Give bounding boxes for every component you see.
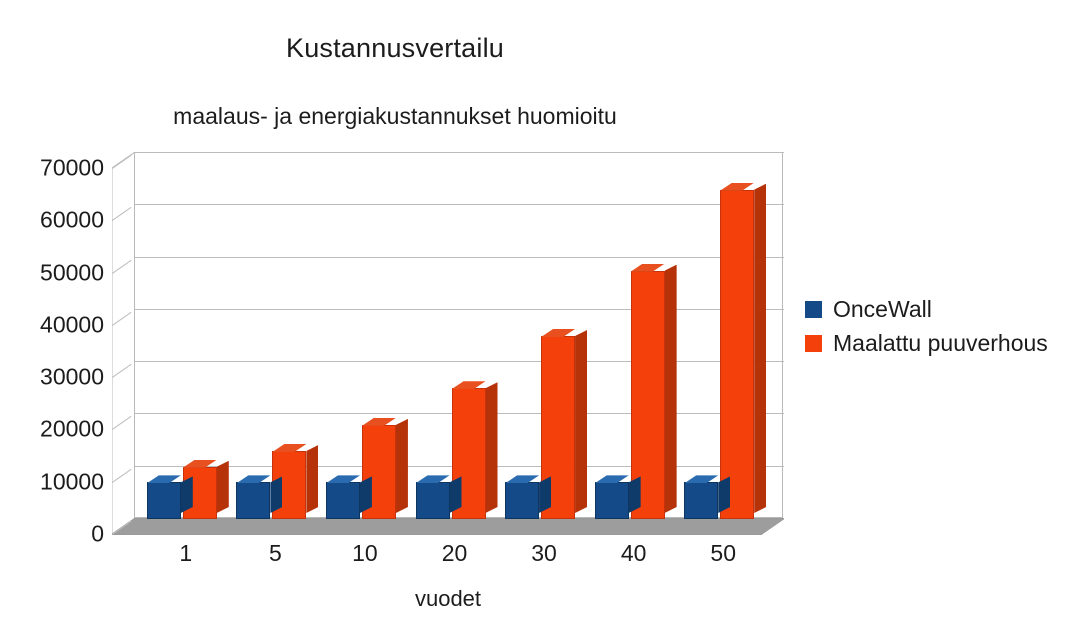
bar-side-face bbox=[539, 476, 551, 513]
x-axis-labels: 151020304050 bbox=[112, 540, 784, 570]
bar-front-face bbox=[505, 482, 539, 519]
bars-layer bbox=[112, 152, 784, 534]
legend-swatch-icon bbox=[805, 301, 822, 318]
bar-front-face bbox=[720, 190, 754, 519]
legend-item[interactable]: Maalattu puuverhous bbox=[805, 326, 1075, 360]
bar-side-face bbox=[181, 476, 193, 513]
bar-side-face bbox=[486, 382, 498, 513]
y-axis-tick-label: 0 bbox=[0, 521, 104, 548]
x-axis-tick-label: 40 bbox=[621, 540, 647, 567]
y-axis-tick-label: 40000 bbox=[0, 311, 104, 338]
bar-chart: Kustannusvertailu maalaus- ja energiakus… bbox=[0, 0, 1076, 626]
bar-side-face bbox=[629, 476, 641, 513]
bar-side-face bbox=[396, 419, 408, 513]
bar-front-face bbox=[236, 482, 270, 519]
x-axis-tick-label: 10 bbox=[352, 540, 378, 567]
bar-front-face bbox=[684, 482, 718, 519]
bar-side-face bbox=[450, 476, 462, 513]
bar[interactable] bbox=[684, 482, 718, 519]
bar-side-face bbox=[754, 184, 766, 513]
bar-front-face bbox=[595, 482, 629, 519]
y-axis-tick-label: 30000 bbox=[0, 364, 104, 391]
bar-front-face bbox=[147, 482, 181, 519]
x-axis-tick-label: 30 bbox=[531, 540, 557, 567]
x-axis-tick-label: 1 bbox=[179, 540, 192, 567]
bar-side-face bbox=[306, 445, 318, 513]
bar[interactable] bbox=[595, 482, 629, 519]
bar-front-face bbox=[326, 482, 360, 519]
legend-item[interactable]: OnceWall bbox=[805, 292, 1075, 326]
bar[interactable] bbox=[720, 190, 754, 519]
x-axis-tick-label: 5 bbox=[269, 540, 282, 567]
chart-subtitle: maalaus- ja energiakustannukset huomioit… bbox=[0, 103, 790, 130]
bar-side-face bbox=[360, 476, 372, 513]
bar[interactable] bbox=[505, 482, 539, 519]
x-axis-title: vuodet bbox=[112, 586, 784, 612]
legend-swatch-icon bbox=[805, 335, 822, 352]
legend-item-label: Maalattu puuverhous bbox=[833, 330, 1048, 357]
bar-side-face bbox=[718, 476, 730, 513]
bar[interactable] bbox=[147, 482, 181, 519]
x-axis-tick-label: 20 bbox=[442, 540, 468, 567]
y-axis-tick-label: 20000 bbox=[0, 416, 104, 443]
bar[interactable] bbox=[416, 482, 450, 519]
y-axis-tick-label: 70000 bbox=[0, 155, 104, 182]
bar[interactable] bbox=[326, 482, 360, 519]
bar-side-face bbox=[217, 461, 229, 513]
y-axis-labels: 700006000050000400003000020000100000 bbox=[0, 0, 104, 626]
legend-item-label: OnceWall bbox=[833, 296, 932, 323]
bar-side-face bbox=[575, 330, 587, 513]
bar[interactable] bbox=[236, 482, 270, 519]
y-axis-tick-label: 10000 bbox=[0, 468, 104, 495]
x-axis-tick-label: 50 bbox=[710, 540, 736, 567]
y-axis-tick-label: 50000 bbox=[0, 259, 104, 286]
chart-title: Kustannusvertailu bbox=[0, 33, 790, 64]
y-axis-tick-label: 60000 bbox=[0, 207, 104, 234]
bar-side-face bbox=[270, 476, 282, 513]
bar-front-face bbox=[416, 482, 450, 519]
chart-legend: OnceWall Maalattu puuverhous bbox=[805, 292, 1075, 360]
bar-side-face bbox=[665, 265, 677, 513]
